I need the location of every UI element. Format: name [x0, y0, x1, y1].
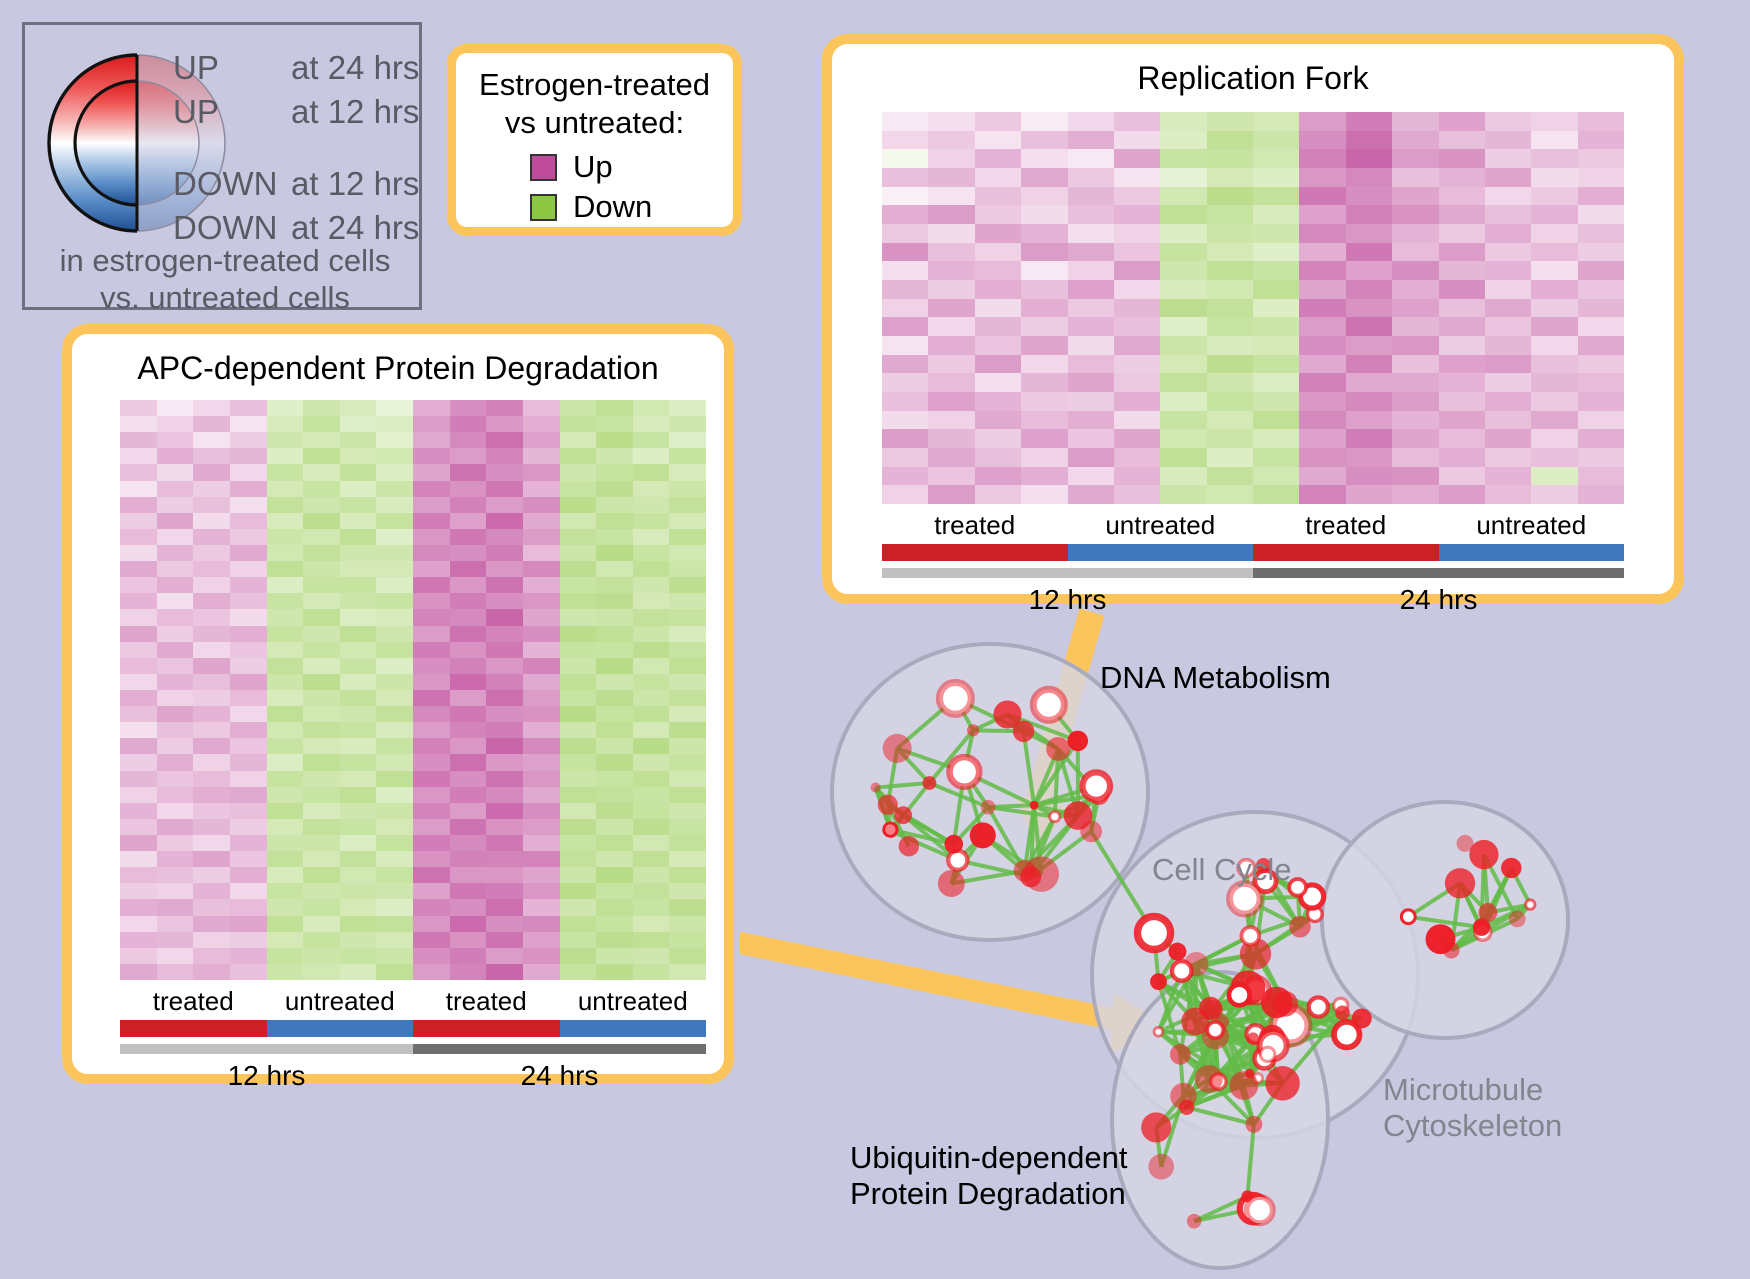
heatmap-cell — [413, 819, 450, 835]
heatmap-cell — [560, 416, 597, 432]
heatmap-cell — [1578, 392, 1624, 411]
heatmap-cell — [230, 738, 267, 754]
heatmap-cell — [596, 448, 633, 464]
heatmap-cell — [450, 642, 487, 658]
heatmap-cell — [230, 932, 267, 948]
network-node[interactable] — [1426, 924, 1456, 954]
heatmap-cell — [267, 497, 304, 513]
heatmap-cell — [523, 771, 560, 787]
rf-axis-label: untreated — [1439, 510, 1625, 541]
heatmap-cell — [267, 416, 304, 432]
ring-legend-labels: UP at 24 hrs UP at 12 hrs DOWN at 12 hrs… — [173, 49, 423, 253]
heatmap-cell — [1485, 485, 1531, 504]
heatmap-cell — [523, 642, 560, 658]
apc-time-label: 24 hrs — [413, 1060, 706, 1092]
heatmap-cell — [340, 819, 377, 835]
heatmap-cell — [1578, 467, 1624, 486]
heatmap-cell — [413, 448, 450, 464]
heatmap-cell — [157, 609, 194, 625]
heatmap-cell — [340, 545, 377, 561]
heatmap-cell — [157, 738, 194, 754]
heatmap-cell — [1531, 448, 1577, 467]
heatmap-cell — [596, 464, 633, 480]
heatmap-cell — [1299, 392, 1345, 411]
heatmap-cell — [413, 577, 450, 593]
heatmap-cell — [669, 626, 706, 642]
rf-axis-labels: treated untreated treated untreated — [882, 510, 1624, 541]
heatmap-cell — [413, 642, 450, 658]
heatmap-cell — [523, 416, 560, 432]
network-node[interactable] — [1030, 801, 1039, 810]
network-node[interactable] — [950, 757, 980, 787]
network-node[interactable] — [1168, 943, 1186, 961]
network-node[interactable] — [1509, 911, 1526, 928]
heatmap-cell — [450, 706, 487, 722]
heatmap-cell — [1392, 336, 1438, 355]
heatmap-cell — [193, 658, 230, 674]
heatmap-row — [882, 448, 1624, 467]
heatmap-cell — [450, 497, 487, 513]
heatmap-cell — [230, 658, 267, 674]
rf-time-label: 12 hrs — [882, 584, 1253, 616]
heatmap-cell — [1160, 355, 1206, 374]
heatmap-cell — [560, 658, 597, 674]
heatmap-cell — [596, 835, 633, 851]
network-node[interactable] — [1150, 973, 1167, 990]
heatmap-cell — [523, 561, 560, 577]
heatmap-cell — [1160, 373, 1206, 392]
heatmap-cell — [882, 373, 928, 392]
heatmap-cell — [303, 642, 340, 658]
heatmap-cell — [1253, 187, 1299, 206]
heatmap-cell — [413, 690, 450, 706]
heatmap-cell — [523, 432, 560, 448]
heatmap-cell — [560, 899, 597, 915]
heatmap-cell — [376, 400, 413, 416]
heatmap-cell — [376, 754, 413, 770]
heatmap-cell — [303, 899, 340, 915]
network-node[interactable] — [1334, 1022, 1360, 1048]
cluster-label-dna-metabolism: DNA Metabolism — [1100, 660, 1331, 696]
heatmap-cell — [1439, 429, 1485, 448]
heatmap-cell — [975, 429, 1021, 448]
heatmap-cell — [1299, 299, 1345, 318]
network-node[interactable] — [1478, 903, 1497, 922]
heatmap-cell — [1021, 336, 1067, 355]
heatmap-cell — [1531, 411, 1577, 430]
network-node[interactable] — [1261, 987, 1293, 1019]
heatmap-cell — [303, 416, 340, 432]
apc-axis-label: untreated — [560, 986, 707, 1017]
heatmap-cell — [1531, 485, 1577, 504]
heatmap-cell — [1021, 149, 1067, 168]
heatmap-cell — [267, 803, 304, 819]
network-node[interactable] — [1445, 868, 1475, 898]
heatmap-cell — [267, 867, 304, 883]
heatmap-cell — [450, 400, 487, 416]
heatmap-cell — [413, 835, 450, 851]
heatmap-cell — [193, 932, 230, 948]
heatmap-cell — [1207, 205, 1253, 224]
heatmap-cell — [1068, 149, 1114, 168]
heatmap-cell — [633, 964, 670, 980]
heatmap-cell — [928, 205, 974, 224]
heatmap-cell — [1346, 336, 1392, 355]
heatmap-cell — [560, 561, 597, 577]
network-node[interactable] — [948, 851, 967, 870]
network-node[interactable] — [938, 870, 965, 897]
heatmap-cell — [157, 899, 194, 915]
apc-time-labels: 12 hrs 24 hrs — [120, 1060, 706, 1092]
heatmap-cell — [523, 883, 560, 899]
network-node[interactable] — [944, 835, 963, 854]
heatmap-cell — [1485, 392, 1531, 411]
heatmap-cell — [1021, 205, 1067, 224]
heatmap-cell — [486, 432, 523, 448]
network-node[interactable] — [1335, 1005, 1350, 1020]
network-node[interactable] — [1068, 731, 1089, 752]
heatmap-row — [120, 593, 706, 609]
network-node[interactable] — [1187, 1214, 1202, 1229]
heatmap-cell — [157, 932, 194, 948]
network-node[interactable] — [1141, 1112, 1171, 1142]
network-node[interactable] — [1289, 879, 1306, 896]
heatmap-cell — [1578, 299, 1624, 318]
heatmap-cell — [596, 626, 633, 642]
heatmap-cell — [376, 835, 413, 851]
network-node[interactable] — [1526, 900, 1535, 909]
network-node[interactable] — [1080, 821, 1102, 843]
apc-treatment-colorbar — [120, 1020, 706, 1037]
heatmap-cell — [267, 609, 304, 625]
heatmap-cell — [303, 883, 340, 899]
heatmap-cell — [1299, 429, 1345, 448]
heatmap-cell — [157, 561, 194, 577]
heatmap-cell — [267, 642, 304, 658]
network-node[interactable] — [1265, 1066, 1299, 1100]
heatmap-cell — [882, 355, 928, 374]
network-node[interactable] — [1260, 1047, 1274, 1061]
heatmap-cell — [303, 464, 340, 480]
heatmap-cell — [1207, 411, 1253, 430]
network-node[interactable] — [1469, 840, 1498, 869]
heatmap-cell — [303, 400, 340, 416]
heatmap-cell — [596, 513, 633, 529]
heatmap-cell — [1485, 280, 1531, 299]
heatmap-cell — [1299, 355, 1345, 374]
heatmap-cell — [928, 373, 974, 392]
heatmap-cell — [1346, 243, 1392, 262]
heatmap-cell — [596, 787, 633, 803]
heatmap-cell — [450, 481, 487, 497]
heatmap-cell — [633, 771, 670, 787]
heatmap-row — [120, 883, 706, 899]
heatmap-cell — [120, 771, 157, 787]
heatmap-cell — [1021, 261, 1067, 280]
heatmap-cell — [560, 513, 597, 529]
apc-axis-label: untreated — [267, 986, 414, 1017]
network-node[interactable] — [1050, 812, 1060, 822]
network-node[interactable] — [1207, 1022, 1223, 1038]
heatmap-cell — [340, 867, 377, 883]
heatmap-cell — [120, 899, 157, 915]
heatmap-cell — [669, 738, 706, 754]
heatmap-cell — [230, 883, 267, 899]
network-node[interactable] — [1014, 860, 1036, 882]
heatmap-cell — [376, 851, 413, 867]
heatmap-cell — [157, 851, 194, 867]
heatmap-cell — [193, 416, 230, 432]
heatmap-row — [120, 706, 706, 722]
heatmap-cell — [193, 883, 230, 899]
heatmap-cell — [1299, 205, 1345, 224]
up-label: Up — [573, 149, 613, 185]
heatmap-cell — [1021, 355, 1067, 374]
network-node[interactable] — [878, 795, 898, 815]
heatmap-cell — [486, 948, 523, 964]
heatmap-cell — [633, 738, 670, 754]
heatmap-cell — [193, 706, 230, 722]
heatmap-cell — [975, 131, 1021, 150]
heatmap-cell — [120, 481, 157, 497]
network-node[interactable] — [1247, 1032, 1259, 1044]
heatmap-cell — [523, 609, 560, 625]
network-node[interactable] — [1033, 689, 1064, 720]
heatmap-cell — [669, 658, 706, 674]
heatmap-cell — [157, 674, 194, 690]
network-node[interactable] — [1148, 1154, 1174, 1180]
heatmap-row — [120, 738, 706, 754]
network-node[interactable] — [1501, 858, 1521, 878]
heatmap-cell — [1253, 261, 1299, 280]
heatmap-cell — [1346, 392, 1392, 411]
network-node[interactable] — [1170, 1083, 1196, 1109]
heatmap-cell — [633, 803, 670, 819]
network-node[interactable] — [871, 783, 881, 793]
ring-time-label: at 24 hrs — [291, 49, 419, 87]
heatmap-cell — [1439, 280, 1485, 299]
heatmap-cell — [633, 448, 670, 464]
network-node[interactable] — [1172, 961, 1192, 981]
heatmap-cell — [1068, 317, 1114, 336]
heatmap-cell — [303, 851, 340, 867]
heatmap-cell — [120, 400, 157, 416]
network-node[interactable] — [939, 682, 971, 714]
network-node[interactable] — [1245, 1116, 1262, 1133]
network-node[interactable] — [1229, 1071, 1258, 1100]
heatmap-cell — [882, 131, 928, 150]
heatmap-cell — [120, 948, 157, 964]
ring-direction-label: DOWN — [173, 165, 291, 203]
heatmap-cell — [303, 577, 340, 593]
down-color-swatch — [530, 194, 557, 221]
network-node[interactable] — [1241, 927, 1259, 945]
heatmap-row — [120, 835, 706, 851]
heatmap-cell — [1021, 485, 1067, 504]
heatmap-cell — [1531, 205, 1577, 224]
heatmap-cell — [303, 835, 340, 851]
heatmap-cell — [376, 545, 413, 561]
heatmap-cell — [376, 626, 413, 642]
network-node[interactable] — [1137, 916, 1170, 949]
network-node[interactable] — [1229, 883, 1260, 914]
heatmap-cell — [1439, 373, 1485, 392]
heatmap-cell — [596, 545, 633, 561]
heatmap-cell — [413, 529, 450, 545]
heatmap-cell — [928, 392, 974, 411]
heatmap-cell — [193, 400, 230, 416]
heatmap-cell — [1068, 243, 1114, 262]
heatmap-cell — [928, 243, 974, 262]
heatmap-cell — [633, 626, 670, 642]
heatmap-cell — [120, 803, 157, 819]
heatmap-cell — [230, 948, 267, 964]
heatmap-cell — [1578, 261, 1624, 280]
heatmap-cell — [1068, 280, 1114, 299]
heatmap-cell — [1207, 280, 1253, 299]
down-label: Down — [573, 189, 652, 225]
heatmap-cell — [560, 674, 597, 690]
network-node[interactable] — [885, 825, 898, 838]
network-node[interactable] — [1195, 1065, 1223, 1093]
ring-direction-label: UP — [173, 93, 291, 131]
network-node[interactable] — [1309, 997, 1328, 1016]
heatmap-cell — [1114, 448, 1160, 467]
network-node[interactable] — [1229, 985, 1250, 1006]
heatmap-cell — [975, 411, 1021, 430]
heatmap-cell — [303, 674, 340, 690]
heatmap-cell — [157, 835, 194, 851]
heatmap-cell — [1531, 373, 1577, 392]
heatmap-cell — [450, 593, 487, 609]
heatmap-cell — [1253, 112, 1299, 131]
heatmap-cell — [633, 561, 670, 577]
heatmap-row — [120, 803, 706, 819]
heatmap-row — [120, 481, 706, 497]
heatmap-cell — [157, 416, 194, 432]
network-node[interactable] — [981, 800, 996, 815]
heatmap-cell — [157, 513, 194, 529]
network-node[interactable] — [1401, 910, 1415, 924]
heatmap-cell — [596, 964, 633, 980]
network-node[interactable] — [922, 776, 936, 790]
heatmap-cell — [450, 674, 487, 690]
heatmap-cell — [633, 835, 670, 851]
heatmap-cell — [450, 754, 487, 770]
heatmap-cell — [157, 400, 194, 416]
colorbar-segment — [413, 1044, 706, 1054]
heatmap-cell — [120, 867, 157, 883]
heatmap-cell — [1253, 355, 1299, 374]
network-node[interactable] — [899, 836, 919, 856]
heatmap-cell — [340, 497, 377, 513]
heatmap-cell — [1253, 205, 1299, 224]
heatmap-cell — [303, 964, 340, 980]
heatmap-cell — [450, 609, 487, 625]
heatmap-cell — [1021, 467, 1067, 486]
network-node[interactable] — [1046, 737, 1070, 761]
heatmap-cell — [523, 948, 560, 964]
heatmap-cell — [413, 787, 450, 803]
heatmap-cell — [1207, 467, 1253, 486]
network-node[interactable] — [1013, 721, 1035, 743]
heatmap-cell — [340, 529, 377, 545]
heatmap-cell — [486, 609, 523, 625]
heatmap-cell — [882, 411, 928, 430]
heatmap-cell — [1392, 243, 1438, 262]
heatmap-cell — [1021, 112, 1067, 131]
heatmap-cell — [340, 964, 377, 980]
heatmap-cell — [1439, 336, 1485, 355]
colorbar-segment — [120, 1044, 413, 1054]
heatmap-cell — [560, 609, 597, 625]
heatmap-cell — [975, 261, 1021, 280]
heatmap-cell — [1207, 392, 1253, 411]
heatmap-cell — [486, 867, 523, 883]
heatmap-cell — [413, 867, 450, 883]
up-color-swatch — [530, 154, 557, 181]
heatmap-cell — [450, 432, 487, 448]
heatmap-row — [120, 787, 706, 803]
heatmap-cell — [1160, 317, 1206, 336]
network-node[interactable] — [967, 724, 979, 736]
heatmap-cell — [120, 883, 157, 899]
heatmap-cell — [120, 642, 157, 658]
network-node[interactable] — [1247, 1197, 1273, 1223]
heatmap-cell — [1485, 224, 1531, 243]
heatmap-cell — [1160, 131, 1206, 150]
heatmap-cell — [193, 545, 230, 561]
network-edge — [1248, 1124, 1254, 1196]
heatmap-row — [120, 561, 706, 577]
heatmap-cell — [486, 964, 523, 980]
heatmap-cell — [1114, 149, 1160, 168]
heatmap-cell — [560, 964, 597, 980]
rf-axis-label: treated — [1253, 510, 1439, 541]
heatmap-cell — [157, 706, 194, 722]
heatmap-cell — [157, 916, 194, 932]
network-node[interactable] — [1154, 1027, 1163, 1036]
heatmap-cell — [376, 674, 413, 690]
heatmap-cell — [1578, 317, 1624, 336]
network-node[interactable] — [1083, 772, 1111, 800]
heatmap-cell — [1392, 355, 1438, 374]
ring-legend-caption: in estrogen-treated cells vs. untreated … — [25, 243, 425, 316]
heatmap-cell — [1299, 243, 1345, 262]
heatmap-cell — [340, 674, 377, 690]
heatmap-cell — [303, 481, 340, 497]
heatmap-cell — [1021, 224, 1067, 243]
network-node[interactable] — [883, 734, 912, 763]
heatmap-cell — [1068, 485, 1114, 504]
heatmap-cell — [193, 754, 230, 770]
updown-legend-title: Estrogen-treated vs untreated: — [456, 66, 733, 142]
heatmap-cell — [1392, 467, 1438, 486]
heatmap-cell — [413, 932, 450, 948]
heatmap-cell — [1531, 429, 1577, 448]
heatmap-cell — [1531, 336, 1577, 355]
heatmap-cell — [1392, 112, 1438, 131]
network-node[interactable] — [1170, 1044, 1191, 1065]
heatmap-cell — [1485, 187, 1531, 206]
network-node[interactable] — [970, 822, 996, 848]
heatmap-cell — [975, 467, 1021, 486]
heatmap-cell — [1160, 467, 1206, 486]
heatmap-cell — [486, 754, 523, 770]
heatmap-cell — [230, 787, 267, 803]
ring-time-label: at 12 hrs — [291, 165, 419, 203]
heatmap-cell — [669, 642, 706, 658]
